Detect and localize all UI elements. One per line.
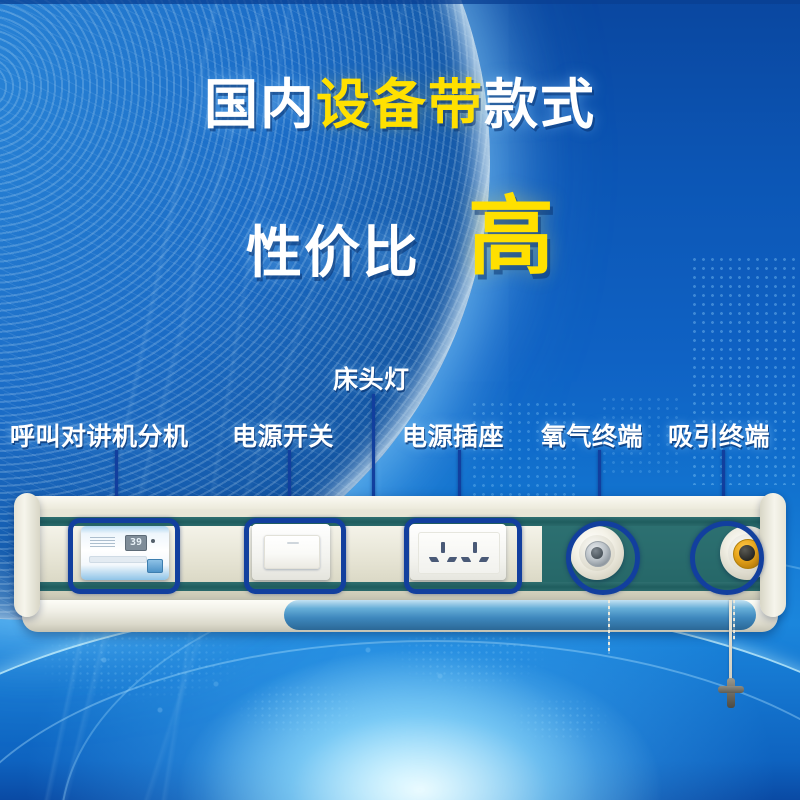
callout-label-oxygen: 氧气终端 bbox=[541, 417, 643, 453]
product-banner: 国内设备带款式 性价比高 呼叫对讲机分机 电源开关 床头灯 电源插座 氧气终端 … bbox=[0, 0, 800, 800]
headline-line-1: 国内设备带款式 bbox=[0, 78, 800, 132]
callout-label-power-switch: 电源开关 bbox=[232, 417, 334, 453]
headline-seg-2-highlight: 设备带 bbox=[316, 75, 484, 135]
highlight-circle-oxygen bbox=[566, 521, 640, 595]
suction-hose-cord bbox=[733, 600, 735, 640]
unit-end-cap-left bbox=[14, 493, 40, 617]
callout-label-bed-lamp: 床头灯 bbox=[333, 360, 410, 396]
callout-label-intercom: 呼叫对讲机分机 bbox=[10, 417, 189, 453]
highlight-circle-suction bbox=[690, 521, 764, 595]
connector-crossbar bbox=[718, 686, 744, 693]
top-edge-bar bbox=[0, 0, 800, 4]
oxygen-hose-cord bbox=[608, 600, 610, 654]
connector-stem bbox=[727, 678, 735, 708]
highlight-box-intercom bbox=[68, 518, 180, 594]
headline-value-text: 性价比 bbox=[246, 221, 420, 284]
unit-top-edge bbox=[22, 496, 778, 509]
headline-value-emphasis: 高 bbox=[468, 189, 554, 285]
headline-seg-1: 国内 bbox=[204, 75, 316, 135]
cord-connector bbox=[718, 678, 744, 708]
headline-line-2: 性价比高 bbox=[0, 166, 800, 291]
highlight-box-power-socket bbox=[404, 518, 522, 594]
headline-block: 国内设备带款式 性价比高 bbox=[0, 78, 800, 132]
callout-label-power-socket: 电源插座 bbox=[402, 417, 504, 453]
hanging-cord bbox=[729, 600, 732, 684]
bottom-rail-lamp-diffuser bbox=[284, 600, 756, 630]
highlight-box-power-switch bbox=[244, 518, 346, 594]
headline-seg-3: 款式 bbox=[484, 75, 596, 135]
callout-label-suction: 吸引终端 bbox=[668, 417, 770, 453]
